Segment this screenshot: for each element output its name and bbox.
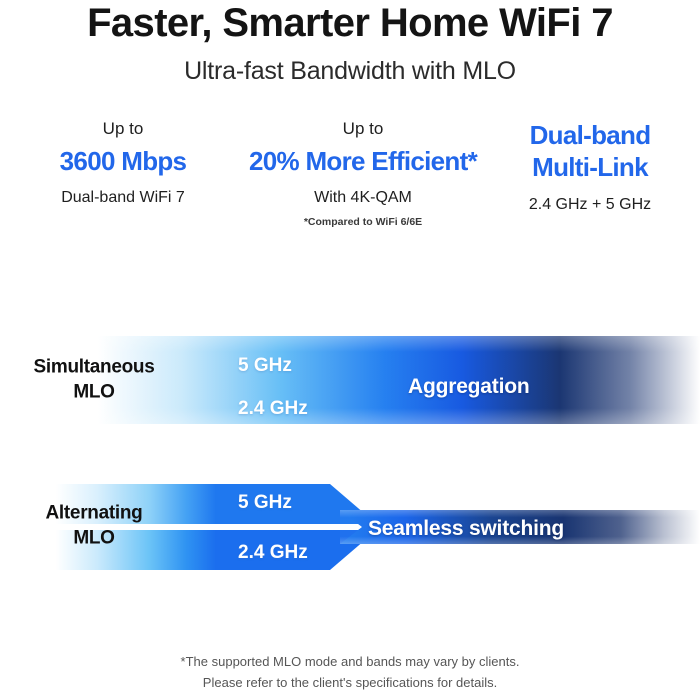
page-title: Faster, Smarter Home WiFi 7 <box>0 2 700 44</box>
freq-label-24ghz: 2.4 GHz <box>238 542 308 564</box>
stat-subtitle: Dual-band WiFi 7 <box>14 188 232 207</box>
page-subtitle: Ultra-fast Bandwidth with MLO <box>0 57 700 86</box>
band-outcome-label: Aggregation <box>408 375 529 399</box>
stat-value-line2: Multi-Link <box>494 152 686 184</box>
band-outcome-label: Seamless switching <box>368 517 564 541</box>
freq-label-5ghz: 5 GHz <box>238 355 292 377</box>
band-mode-label: Simultaneous MLO <box>18 355 170 404</box>
header: Faster, Smarter Home WiFi 7 Ultra-fast B… <box>0 0 700 86</box>
band-mode-line2: MLO <box>18 380 170 405</box>
footnote-line-1: *The supported MLO mode and bands may va… <box>0 651 700 672</box>
stat-value: 3600 Mbps <box>14 146 232 177</box>
freq-label-24ghz: 2.4 GHz <box>238 398 308 420</box>
band-mode-label: Alternating MLO <box>18 501 170 550</box>
mlo-diagram: Simultaneous MLO 5 GHz 2.4 GHz Aggregati… <box>0 324 700 594</box>
band-alternating-mlo: Alternating MLO 5 GHz 2.4 GHz Seamless s… <box>0 474 700 578</box>
wifi7-feature-graphic: Faster, Smarter Home WiFi 7 Ultra-fast B… <box>0 0 700 700</box>
stat-eyebrow: Up to <box>14 120 232 139</box>
freq-label-5ghz: 5 GHz <box>238 492 292 514</box>
stat-card-multilink: Dual-band Multi-Link 2.4 GHz + 5 GHz <box>494 120 686 228</box>
footnote-line-2: Please refer to the client's specificati… <box>0 672 700 693</box>
band-mode-line2: MLO <box>18 526 170 551</box>
stat-subtitle: With 4K-QAM <box>232 188 494 207</box>
stats-row: Up to 3600 Mbps Dual-band WiFi 7 Up to 2… <box>0 120 700 228</box>
band-mode-line1: Simultaneous <box>34 356 155 377</box>
stat-value: 20% More Efficient* <box>232 146 494 177</box>
stat-footnote: *Compared to WiFi 6/6E <box>232 216 494 229</box>
stat-card-speed: Up to 3600 Mbps Dual-band WiFi 7 <box>14 120 232 228</box>
stat-value: Dual-band <box>494 120 686 152</box>
footnote: *The supported MLO mode and bands may va… <box>0 651 700 693</box>
band-mode-line1: Alternating <box>46 502 143 523</box>
stat-eyebrow: Up to <box>232 120 494 139</box>
stat-subtitle: 2.4 GHz + 5 GHz <box>494 195 686 214</box>
stat-card-efficiency: Up to 20% More Efficient* With 4K-QAM *C… <box>232 120 494 228</box>
band-simultaneous-mlo: Simultaneous MLO 5 GHz 2.4 GHz Aggregati… <box>0 330 700 430</box>
